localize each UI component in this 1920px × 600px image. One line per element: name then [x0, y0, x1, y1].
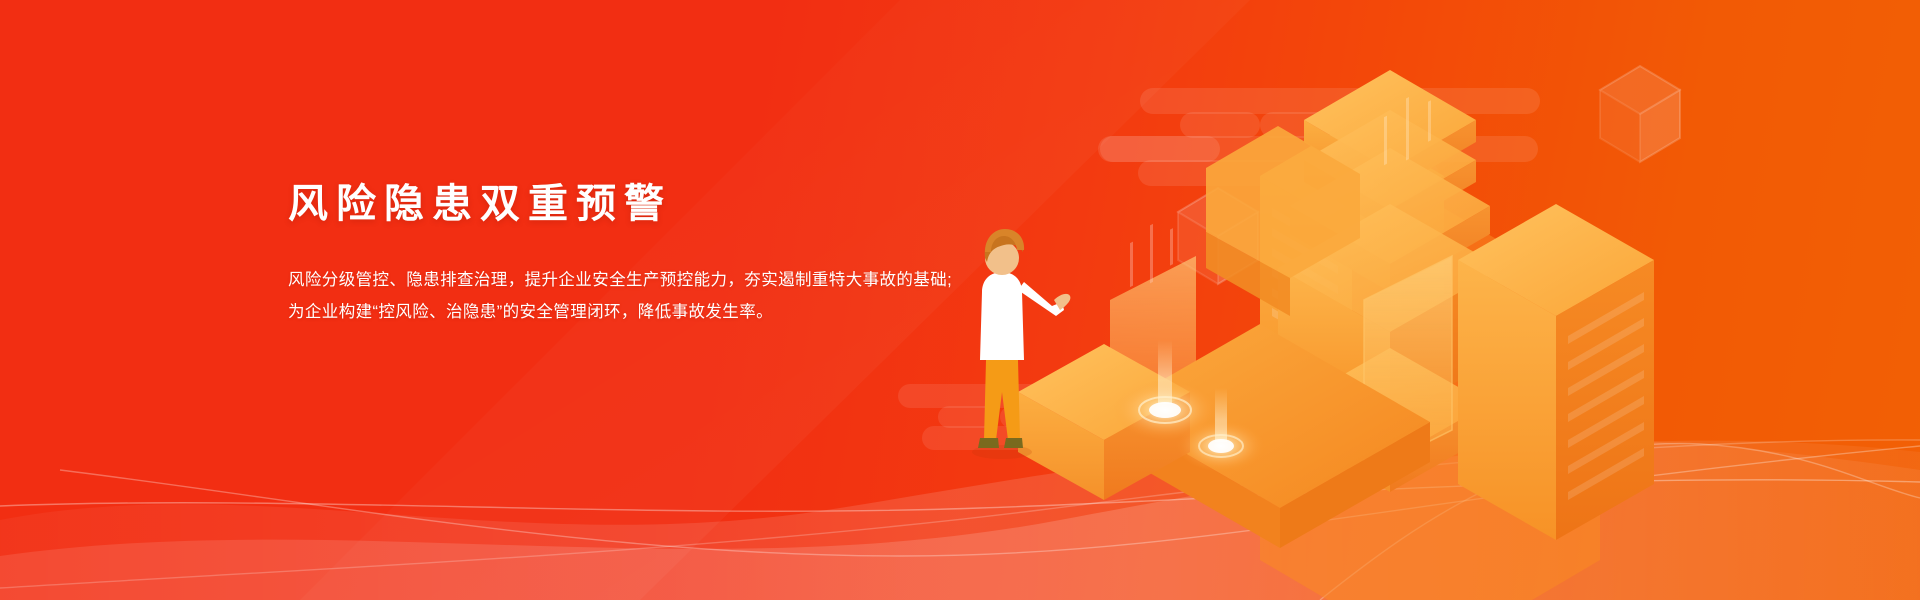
- rack-top-face: [1458, 204, 1654, 316]
- server-rack-back-left: [1260, 122, 1444, 430]
- cloud-motif-upper: [1098, 88, 1540, 186]
- wave-line-2: [60, 446, 1920, 556]
- rack-top-face: [1260, 122, 1444, 230]
- glass-panel-left: [1110, 224, 1196, 474]
- server-rack-right: [1458, 204, 1654, 540]
- rack-vent-slots: [1272, 208, 1338, 354]
- foreground-box-top: [1018, 344, 1190, 440]
- wave-line-group: [0, 440, 1920, 600]
- foreground-box-right: [1104, 392, 1190, 500]
- chevron-slab: [1206, 126, 1360, 278]
- banner-subtitle: 风险分级管控、隐患排查治理，提升企业安全生产预控能力，夯实遏制重特大事故的基础;…: [288, 264, 1048, 328]
- glow-point-2: [1177, 388, 1265, 472]
- foreground-box-left: [1018, 392, 1104, 500]
- banner-text-block: 风险隐患双重预警 风险分级管控、隐患排查治理，提升企业安全生产预控能力，夯实遏制…: [288, 176, 1048, 328]
- figure-pants: [984, 360, 1020, 440]
- glow-point-group: [1113, 340, 1265, 472]
- platform-top: [1110, 324, 1430, 508]
- wave-line-3: [1320, 443, 1920, 600]
- banner-subtitle-line-2: 为企业构建“控风险、治隐患”的安全管理闭环，降低事故发生率。: [288, 296, 1048, 328]
- wave-line-1: [0, 480, 1920, 511]
- hexagon-decor-group: [1178, 66, 1680, 284]
- banner-subtitle-line-1: 风险分级管控、隐患排查治理，提升企业安全生产预控能力，夯实遏制重特大事故的基础;: [288, 264, 1048, 296]
- wave-band-group: [0, 436, 1920, 600]
- rack-right-face: [1556, 260, 1654, 540]
- platform-right: [1280, 422, 1430, 548]
- rack-left-face: [1458, 260, 1556, 540]
- wave-line-4: [0, 440, 1920, 588]
- rack-left-face: [1260, 176, 1352, 430]
- floor-platform-group: [1018, 126, 1430, 548]
- figure-shadow: [972, 445, 1032, 459]
- rack-right-face: [1352, 176, 1444, 430]
- banner-title: 风险隐患双重预警: [288, 176, 1048, 232]
- figure-shoe-left: [978, 438, 999, 448]
- glass-panel-group: [1110, 97, 1452, 474]
- figure-hand: [1054, 294, 1070, 310]
- hexagon-icon-middle: [1268, 162, 1336, 242]
- hexagon-icon-top-right: [1600, 66, 1680, 162]
- platform-left: [1110, 410, 1280, 548]
- glow-point-1: [1113, 340, 1217, 440]
- cloud-motif-lower: [898, 384, 1148, 450]
- hexagon-icon-lower: [1178, 188, 1258, 284]
- isometric-datacenter-illustration: [960, 0, 1920, 600]
- glass-panel-center: [1364, 97, 1452, 474]
- rack-vent-slots: [1568, 292, 1644, 500]
- wave-band-lower: [0, 436, 1920, 600]
- server-stack-center: [1278, 70, 1502, 492]
- background-block-far: [1260, 200, 1600, 600]
- promo-banner: 风险隐患双重预警 风险分级管控、隐患排查治理，提升企业安全生产预控能力，夯实遏制…: [0, 0, 1920, 600]
- wave-band-upper: [0, 441, 1920, 600]
- figure-shoe-right: [1004, 438, 1023, 448]
